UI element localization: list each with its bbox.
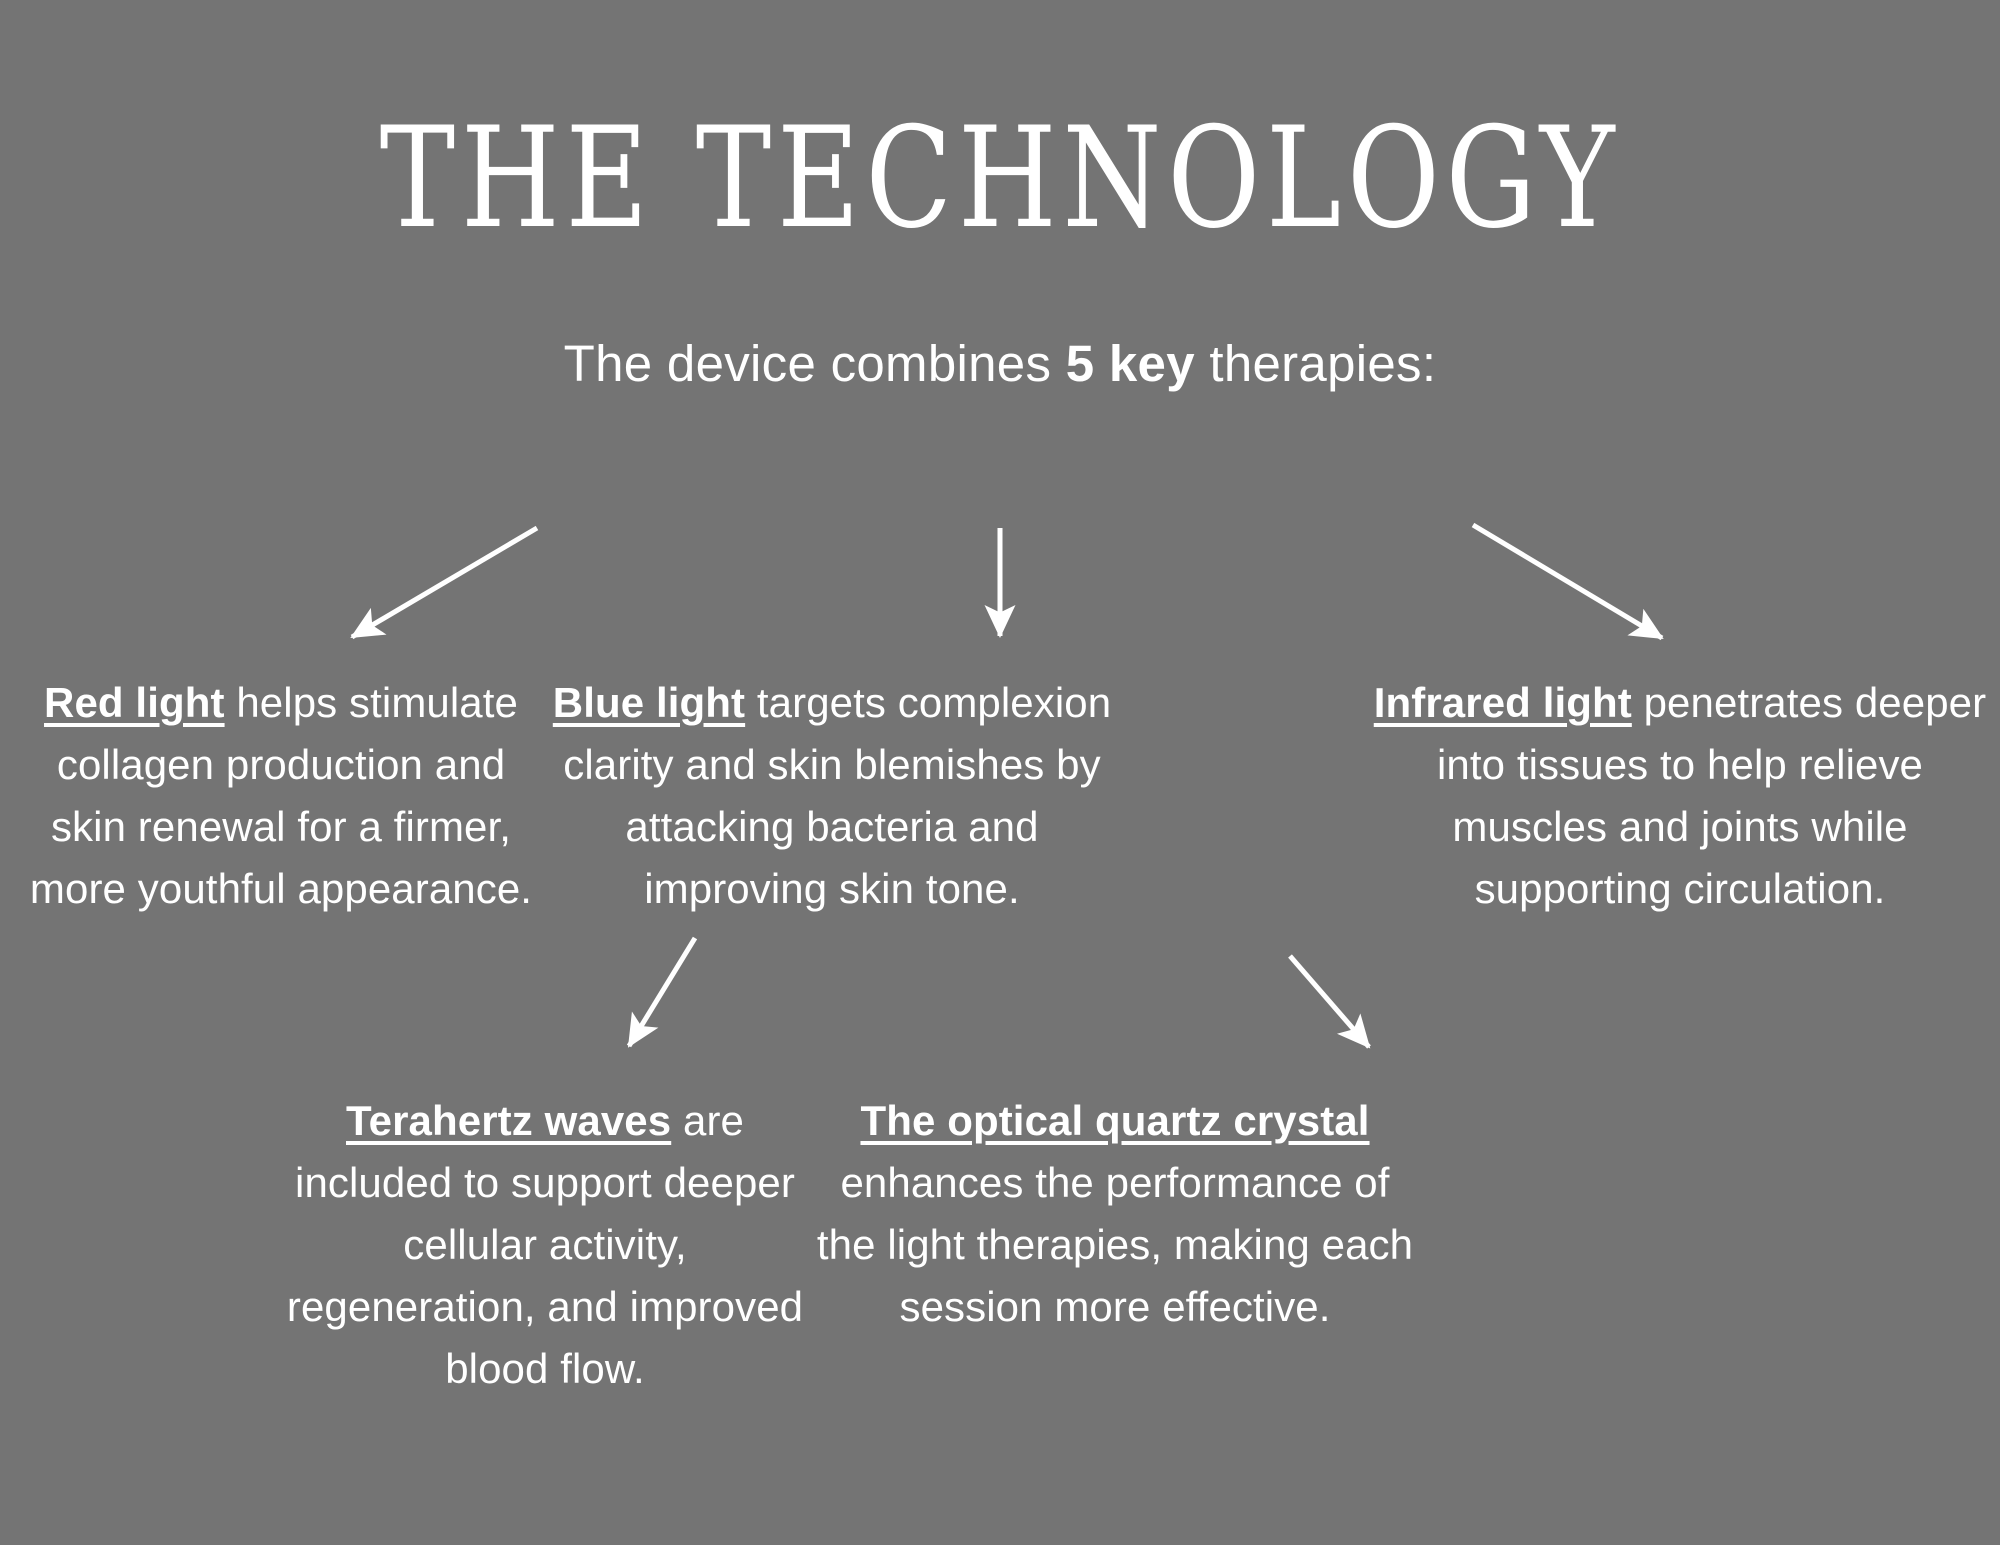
slide-canvas: THE TECHNOLOGY The device combines 5 key…	[0, 0, 2000, 1545]
subtitle-before: The device combines	[564, 335, 1066, 392]
arrow-to-terahertz-icon	[629, 938, 695, 1046]
blurb-red-light: Red light helps stimulate collagen produ…	[22, 672, 540, 920]
subtitle-after: therapies:	[1195, 335, 1436, 392]
blurb-infrared-light: Infrared light penetrates deeper into ti…	[1370, 672, 1990, 920]
blurb-blue-light: Blue light targets complexion clarity an…	[542, 672, 1122, 920]
subtitle: The device combines 5 key therapies:	[0, 338, 2000, 389]
arrow-to-red-light-icon	[352, 528, 537, 637]
page-title: THE TECHNOLOGY	[40, 108, 1960, 247]
blurb-terahertz-waves-lead: Terahertz waves	[346, 1097, 671, 1144]
blurb-terahertz-waves: Terahertz waves are included to support …	[285, 1090, 805, 1400]
blurb-infrared-light-lead: Infrared light	[1374, 679, 1632, 726]
blurb-optical-quartz: The optical quartz crystal enhances the …	[815, 1090, 1415, 1338]
blurb-blue-light-lead: Blue light	[553, 679, 745, 726]
blurb-optical-quartz-lead: The optical quartz crystal	[860, 1097, 1369, 1144]
subtitle-emphasis: 5 key	[1066, 335, 1195, 392]
arrow-to-quartz-icon	[1290, 956, 1369, 1047]
blurb-red-light-lead: Red light	[44, 679, 225, 726]
arrow-to-infrared-light-icon	[1473, 525, 1662, 638]
blurb-optical-quartz-body: enhances the performance of the light th…	[817, 1159, 1413, 1330]
